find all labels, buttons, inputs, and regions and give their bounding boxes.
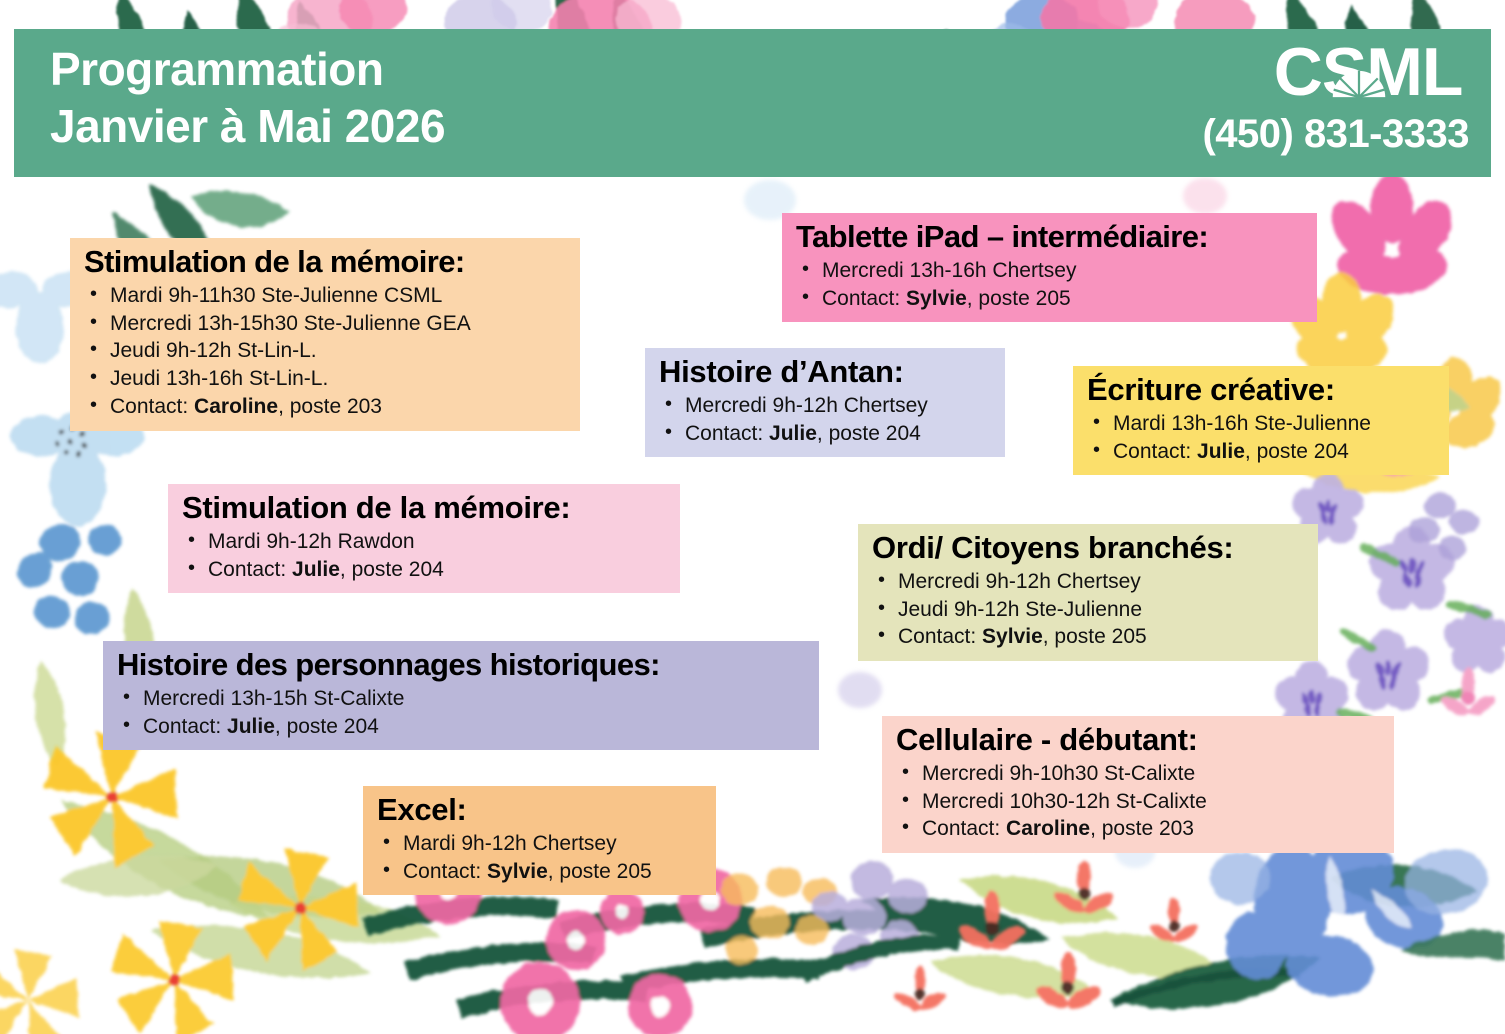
card-item: Mercredi 9h-12h Chertsey — [659, 392, 991, 420]
card-item: Contact: Julie, poste 204 — [659, 420, 991, 448]
card-item: Mardi 9h-11h30 Ste-Julienne CSML — [84, 282, 566, 310]
program-card-ecriture-creative: Écriture créative: Mardi 13h-16h Ste-Jul… — [1073, 366, 1449, 475]
program-card-tablette-ipad: Tablette iPad – intermédiaire: Mercredi … — [782, 213, 1317, 322]
program-card-histoire-antan: Histoire d’Antan: Mercredi 9h-12h Cherts… — [645, 348, 1005, 457]
card-item: Mercredi 9h-10h30 St-Calixte — [896, 760, 1380, 788]
page-title: Programmation Janvier à Mai 2026 — [50, 41, 445, 155]
card-item: Mercredi 13h-15h30 Ste-Julienne GEA — [84, 310, 566, 338]
card-title: Stimulation de la mémoire: — [182, 490, 666, 527]
card-items: Mercredi 9h-12h ChertseyContact: Julie, … — [659, 392, 991, 448]
card-title: Ordi/ Citoyens branchés: — [872, 530, 1304, 567]
poster-canvas: Programmation Janvier à Mai 2026 CSML (4… — [0, 0, 1505, 1034]
card-item: Mardi 9h-12h Rawdon — [182, 528, 666, 556]
card-item: Contact: Julie, poste 204 — [182, 556, 666, 584]
program-card-ordi-citoyens-branches: Ordi/ Citoyens branchés: Mercredi 9h-12h… — [858, 524, 1318, 661]
card-item: Mardi 9h-12h Chertsey — [377, 830, 702, 858]
card-items: Mardi 13h-16h Ste-JulienneContact: Julie… — [1087, 410, 1435, 466]
card-items: Mardi 9h-12h ChertseyContact: Sylvie, po… — [377, 830, 702, 886]
card-item: Mardi 13h-16h Ste-Julienne — [1087, 410, 1435, 438]
card-items: Mercredi 13h-16h ChertseyContact: Sylvie… — [796, 257, 1303, 313]
csml-logo: CSML — [1202, 35, 1462, 109]
program-card-memoire-2: Stimulation de la mémoire: Mardi 9h-12h … — [168, 484, 680, 593]
program-card-cellulaire-debutant: Cellulaire - débutant: Mercredi 9h-10h30… — [882, 716, 1394, 853]
card-items: Mercredi 9h-10h30 St-CalixteMercredi 10h… — [896, 760, 1380, 844]
card-item: Contact: Sylvie, poste 205 — [377, 858, 702, 886]
card-item: Jeudi 9h-12h St-Lin-L. — [84, 337, 566, 365]
card-item: Mercredi 9h-12h Chertsey — [872, 568, 1304, 596]
card-item: Contact: Sylvie, poste 205 — [872, 623, 1304, 651]
card-items: Mardi 9h-12h RawdonContact: Julie, poste… — [182, 528, 666, 584]
card-item: Mercredi 13h-15h St-Calixte — [117, 685, 805, 713]
card-items: Mercredi 9h-12h ChertseyJeudi 9h-12h Ste… — [872, 568, 1304, 652]
card-item: Contact: Sylvie, poste 205 — [796, 285, 1303, 313]
card-item: Contact: Julie, poste 204 — [1087, 438, 1435, 466]
card-items: Mercredi 13h-15h St-CalixteContact: Juli… — [117, 685, 805, 741]
sunburst-fan-icon — [1330, 69, 1388, 99]
card-item: Jeudi 13h-16h St-Lin-L. — [84, 365, 566, 393]
program-card-memoire-1: Stimulation de la mémoire: Mardi 9h-11h3… — [70, 238, 580, 431]
phone-number: (450) 831-3333 — [1202, 111, 1469, 157]
card-item: Mercredi 13h-16h Chertsey — [796, 257, 1303, 285]
card-title: Excel: — [377, 792, 702, 829]
card-title: Tablette iPad – intermédiaire: — [796, 219, 1303, 256]
card-items: Mardi 9h-11h30 Ste-Julienne CSMLMercredi… — [84, 282, 566, 422]
csml-logo-block: CSML (450) 831-3333 — [1202, 35, 1469, 157]
card-item: Contact: Caroline, poste 203 — [84, 393, 566, 421]
card-item: Contact: Julie, poste 204 — [117, 713, 805, 741]
card-item: Jeudi 9h-12h Ste-Julienne — [872, 596, 1304, 624]
card-title: Histoire des personnages historiques: — [117, 647, 805, 684]
header-banner: Programmation Janvier à Mai 2026 CSML (4… — [14, 29, 1491, 177]
card-title: Écriture créative: — [1087, 372, 1435, 409]
card-item: Contact: Caroline, poste 203 — [896, 815, 1380, 843]
card-title: Stimulation de la mémoire: — [84, 244, 566, 281]
card-item: Mercredi 10h30-12h St-Calixte — [896, 788, 1380, 816]
card-title: Histoire d’Antan: — [659, 354, 991, 391]
program-card-excel: Excel: Mardi 9h-12h ChertseyContact: Syl… — [363, 786, 716, 895]
card-title: Cellulaire - débutant: — [896, 722, 1380, 759]
program-card-personnages-historiques: Histoire des personnages historiques: Me… — [103, 641, 819, 750]
